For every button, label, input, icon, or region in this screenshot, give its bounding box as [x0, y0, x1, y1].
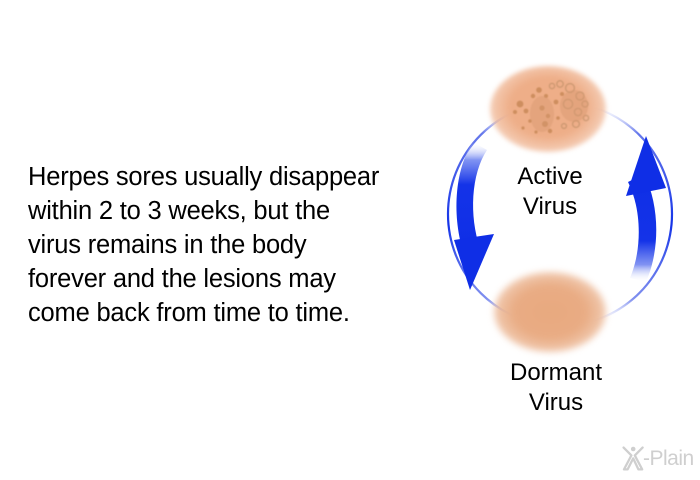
- xplain-logo-text: -Plain: [643, 448, 694, 469]
- virus-cycle-diagram: Active Virus Dormant Virus: [432, 58, 688, 426]
- body-paragraph: Herpes sores usually disappear within 2 …: [28, 160, 428, 330]
- xplain-logo: -Plain: [622, 442, 696, 474]
- active-virus-lesion-spots: [490, 66, 606, 152]
- dormant-virus-label: Dormant Virus: [450, 358, 662, 418]
- dormant-virus-skin-patch-image: [494, 272, 606, 352]
- arrow-dormant-to-active-icon: [626, 136, 666, 282]
- active-virus-label: Active Virus: [470, 162, 630, 222]
- slide-canvas: Herpes sores usually disappear within 2 …: [0, 0, 700, 480]
- xplain-figure-icon: [622, 445, 644, 471]
